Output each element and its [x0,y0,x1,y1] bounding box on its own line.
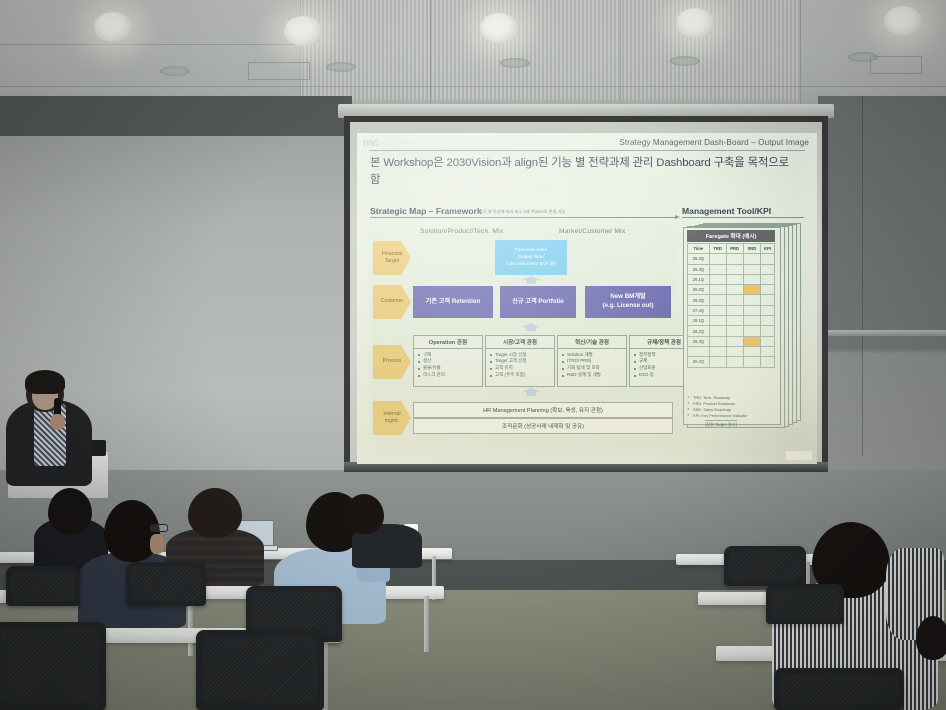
kpi-cell-time: 25.4Q [688,264,710,274]
chevron-label-line2: mgmt. [385,418,399,425]
kpi-target-note: [정량 Target 명시] [705,420,737,428]
process-column-operation: Operation 관점 구매 생산 물류/유통 리스크 관리 [413,335,483,387]
ceiling-grill-panel [300,0,800,100]
kpi-legend: TRD: Tech. Roadmap PRD: Product Roadmap … [687,395,779,419]
kpi-table-row: 25.3Q [688,254,775,264]
kpi-col-kpi: KPI [760,244,774,254]
kpi-cell [743,357,760,367]
kpi-table: Time TRD PRD SRD KPI 25.3Q25.4Q26.1Q26.2… [687,243,775,368]
kpi-cell [743,346,760,356]
kpi-table-row: 25.4Q [688,264,775,274]
kpi-table-row: 27.4Q [688,305,775,315]
kpi-cell [709,336,726,346]
chair-mesh [729,551,801,581]
conference-room-photo: mc Strategy Management Dash-Board – Outp… [0,0,946,710]
kpi-cell [726,305,743,315]
process-column-market-customer: 시장/고객 관점 Target 시장 선정 Target 고객 선정 고객 유지… [485,335,555,387]
presenter-shirt [34,404,66,466]
financial-index-box: Financial index (Sales/ Rev./ Cost reduc… [495,240,567,275]
kpi-cell [760,264,774,274]
chair-mesh [771,589,839,619]
kpi-table-row: 26.2Q [688,285,775,295]
process-header: 혁신/기술 관점 [558,336,626,349]
customer-box-new-bm-line2: (e.g. License out) [603,302,654,311]
kpi-table-row: 26.1Q [688,274,775,284]
financial-index-line2: (Sales/ Rev./ [517,254,544,261]
kpi-cell [743,264,760,274]
ceiling-light [884,6,922,36]
ceiling-seam [430,0,431,104]
ceiling-light [480,13,518,43]
chair-mesh [203,637,317,703]
kpi-cell [743,254,760,264]
kpi-cell [726,254,743,264]
process-item: R&D 설계 및 개발 [562,372,623,379]
kpi-table-row: 28.2Q [688,326,775,336]
presenter-hair [25,370,65,394]
chevron-label-line2: Target [385,258,399,265]
glasses-icon [150,524,168,532]
kpi-cell [709,295,726,305]
kpi-cell-time: 28.2Q [688,326,710,336]
ceiling-seam [0,44,300,45]
chevron-label-line1: Process [383,358,402,365]
kpi-cell [743,305,760,315]
kpi-cell [760,346,774,356]
section-heading-management-tool: Management Tool/KPI [682,206,771,216]
kpi-cell [726,346,743,356]
ceiling-light [284,16,322,46]
process-column-innovation-tech: 혁신/기술 관점 Solution 개발 (TRD/ PRD) 기회 탐색 및 … [557,335,627,387]
chair-mesh [11,571,75,601]
column-header-market-mix: Market/Customer Mix [559,228,625,235]
kpi-legend-item: KPI: Key Performance Indicator [687,413,779,419]
customer-box-new-portfolio: 신규 고객 Portfolio [500,286,576,318]
internal-band-hr: HR Management Planning (확보, 육성, 유지 관점) [413,402,673,418]
kpi-panel-title: Faregate 확대 (예시) [687,230,775,242]
attendee-head [48,488,92,534]
chair [766,584,844,624]
chair-mesh [780,674,898,704]
slide-watermark-logo: mc [363,137,378,149]
attendee-head [344,494,384,534]
kpi-cell [709,274,726,284]
chair [774,668,904,710]
ceiling-speaker [670,56,700,66]
chevron-label-line1: Internal [383,411,400,418]
kpi-cell [760,254,774,264]
process-items: Target 시장 선정 Target 고객 선정 고객 유지 고객 (주주 포… [486,349,554,379]
kpi-cell-time: 27.4Q [688,305,710,315]
internal-band-culture: 조직문화 (성공사례 내재화 및 공유) [413,418,673,434]
kpi-cell [743,285,760,295]
section-rule-right [682,217,804,218]
kpi-cell [726,336,743,346]
process-header: Operation 관점 [414,336,482,349]
process-item: Solution 개발 [562,352,623,359]
ceiling-speaker [160,66,190,76]
kpi-cell [726,316,743,326]
kpi-table-row: 28.3Q [688,336,775,346]
kpi-cell [709,305,726,315]
kpi-cell [743,295,760,305]
ceiling-speaker [500,58,530,68]
ceiling-seam [620,0,621,100]
wall-left-upper-band [0,96,352,136]
kpi-cell-time: 26.3Q [688,295,710,305]
kpi-cell-time: 26.1Q [688,274,710,284]
kpi-cell [760,305,774,315]
kpi-cell [726,274,743,284]
chair-mesh [1,629,99,703]
kpi-cell-time: 25.3Q [688,254,710,264]
kpi-cell [743,326,760,336]
kpi-cell [760,326,774,336]
kpi-cell-time: 30.4Q [688,357,710,367]
chevron-label-line1: Financial [382,251,403,258]
kpi-table-header-row: Time TRD PRD SRD KPI [688,244,775,254]
financial-index-line1: Financial index [515,247,547,254]
kpi-cell [709,326,726,336]
chair [0,622,106,710]
kpi-cell-time: 28.1Q [688,316,710,326]
ceiling-seam [800,0,801,104]
section-subnote: 조직 별 특성에 따라 최소 4개 Theme로 한정 가능 [479,209,565,215]
slide-headline: 본 Workshop은 2030Vision과 align된 기능 별 전략과제… [370,155,800,188]
customer-box-retention: 기존 고객 Retention [413,286,493,318]
ceiling-vent [870,56,922,74]
kpi-cell [709,264,726,274]
kpi-col-srd: SRD [743,244,760,254]
ceiling-light [676,8,714,38]
kpi-cell [743,316,760,326]
kpi-cell [726,285,743,295]
kpi-cell [726,264,743,274]
kpi-table-row: 26.3Q [688,295,775,305]
kpi-cell [760,316,774,326]
ceiling-speaker [326,62,356,72]
slide-title-divider [369,150,805,151]
kpi-table-row: 28.1Q [688,316,775,326]
kpi-cell [743,274,760,284]
kpi-cell [726,295,743,305]
kpi-cell [743,336,760,346]
chair-mesh [131,567,201,601]
ceiling-speaker [848,52,878,62]
kpi-cell [760,285,774,295]
kpi-cell [760,295,774,305]
kpi-cell-time: 28.3Q [688,336,710,346]
kpi-cell [760,357,774,367]
kpi-cell [760,336,774,346]
process-header: 시장/고객 관점 [486,336,554,349]
kpi-cell [709,346,726,356]
process-items: 구매 생산 물류/유통 리스크 관리 [414,349,482,379]
kpi-cell-time: 26.2Q [688,285,710,295]
kpi-col-prd: PRD [726,244,743,254]
process-item: 리스크 관리 [418,372,479,379]
section-heading-strategic-map: Strategic Map – Framework [370,206,482,216]
kpi-col-time: Time [688,244,710,254]
attendee-head [916,616,946,660]
slide-header-title: Strategy Management Dash-Board – Output … [619,138,809,147]
customer-box-new-bm-line1: New BM개발 [610,293,645,302]
kpi-cell [709,254,726,264]
company-logo [786,451,812,460]
chair [724,546,806,586]
chair [126,562,206,606]
process-items: Solution 개발 (TRD/ PRD) 기회 탐색 및 포착 R&D 설계… [558,349,626,379]
ceiling-light [94,12,132,42]
kpi-cell-time [688,346,710,356]
desk-leg [424,596,429,652]
kpi-cell [709,316,726,326]
column-header-solution-mix: Solution/Product/Tech. Mix [420,228,503,235]
kpi-cell [726,357,743,367]
presenter-hand [50,414,65,430]
financial-index-line3: Cost reduction/ EVA 등) [506,261,556,268]
attendee-hand [150,534,164,554]
kpi-table-row: 30.4Q [688,357,775,367]
section-arrow-rule [370,217,676,218]
ceiling-vent [248,62,310,80]
kpi-cell [709,357,726,367]
kpi-col-trd: TRD [709,244,726,254]
wall-right-trim [818,330,946,336]
chevron-label-line1: Customer [381,298,404,305]
kpi-table-row [688,346,775,356]
chair [196,630,324,710]
process-item: 생산 [418,358,479,365]
kpi-cell [709,285,726,295]
chair [6,566,80,606]
ceiling-seam [0,86,946,87]
wall-right-seam [862,96,863,456]
attendee-head [188,488,242,538]
presentation-slide: mc Strategy Management Dash-Board – Outp… [357,133,817,464]
kpi-cell [760,274,774,284]
process-item: 고객 (주주 포함) [490,372,551,379]
kpi-cell [726,326,743,336]
customer-box-new-bm: New BM개발 (e.g. License out) [585,286,671,318]
